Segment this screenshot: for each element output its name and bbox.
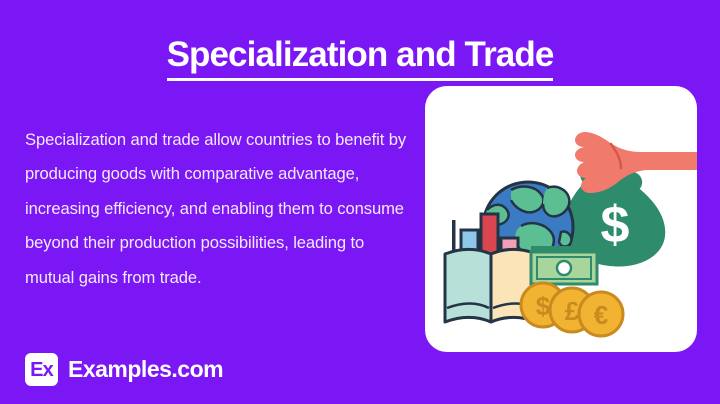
body-paragraph: Specialization and trade allow countries… [25,123,410,296]
illustration-card: $ [425,86,697,352]
coin-pound-symbol: £ [565,296,580,326]
banknote-group [531,246,597,284]
slide-canvas: Specialization and Trade Specialization … [0,0,720,404]
money-bag-dollar-symbol: $ [601,196,630,254]
banknote-seal [557,261,571,275]
economics-illustration: $ [425,86,697,352]
money-bag-group: $ [564,108,697,266]
page-title: Specialization and Trade [167,37,554,81]
coins-group: $ £ € [521,283,623,336]
globe-land-5 [559,232,571,247]
brand-logo: Ex Examples.com [25,353,223,386]
book-left-page [445,250,491,323]
brand-name: Examples.com [68,356,223,383]
coin-euro-symbol: € [594,300,608,330]
coin-dollar-symbol: $ [536,291,551,321]
logo-badge-icon: Ex [25,353,58,386]
